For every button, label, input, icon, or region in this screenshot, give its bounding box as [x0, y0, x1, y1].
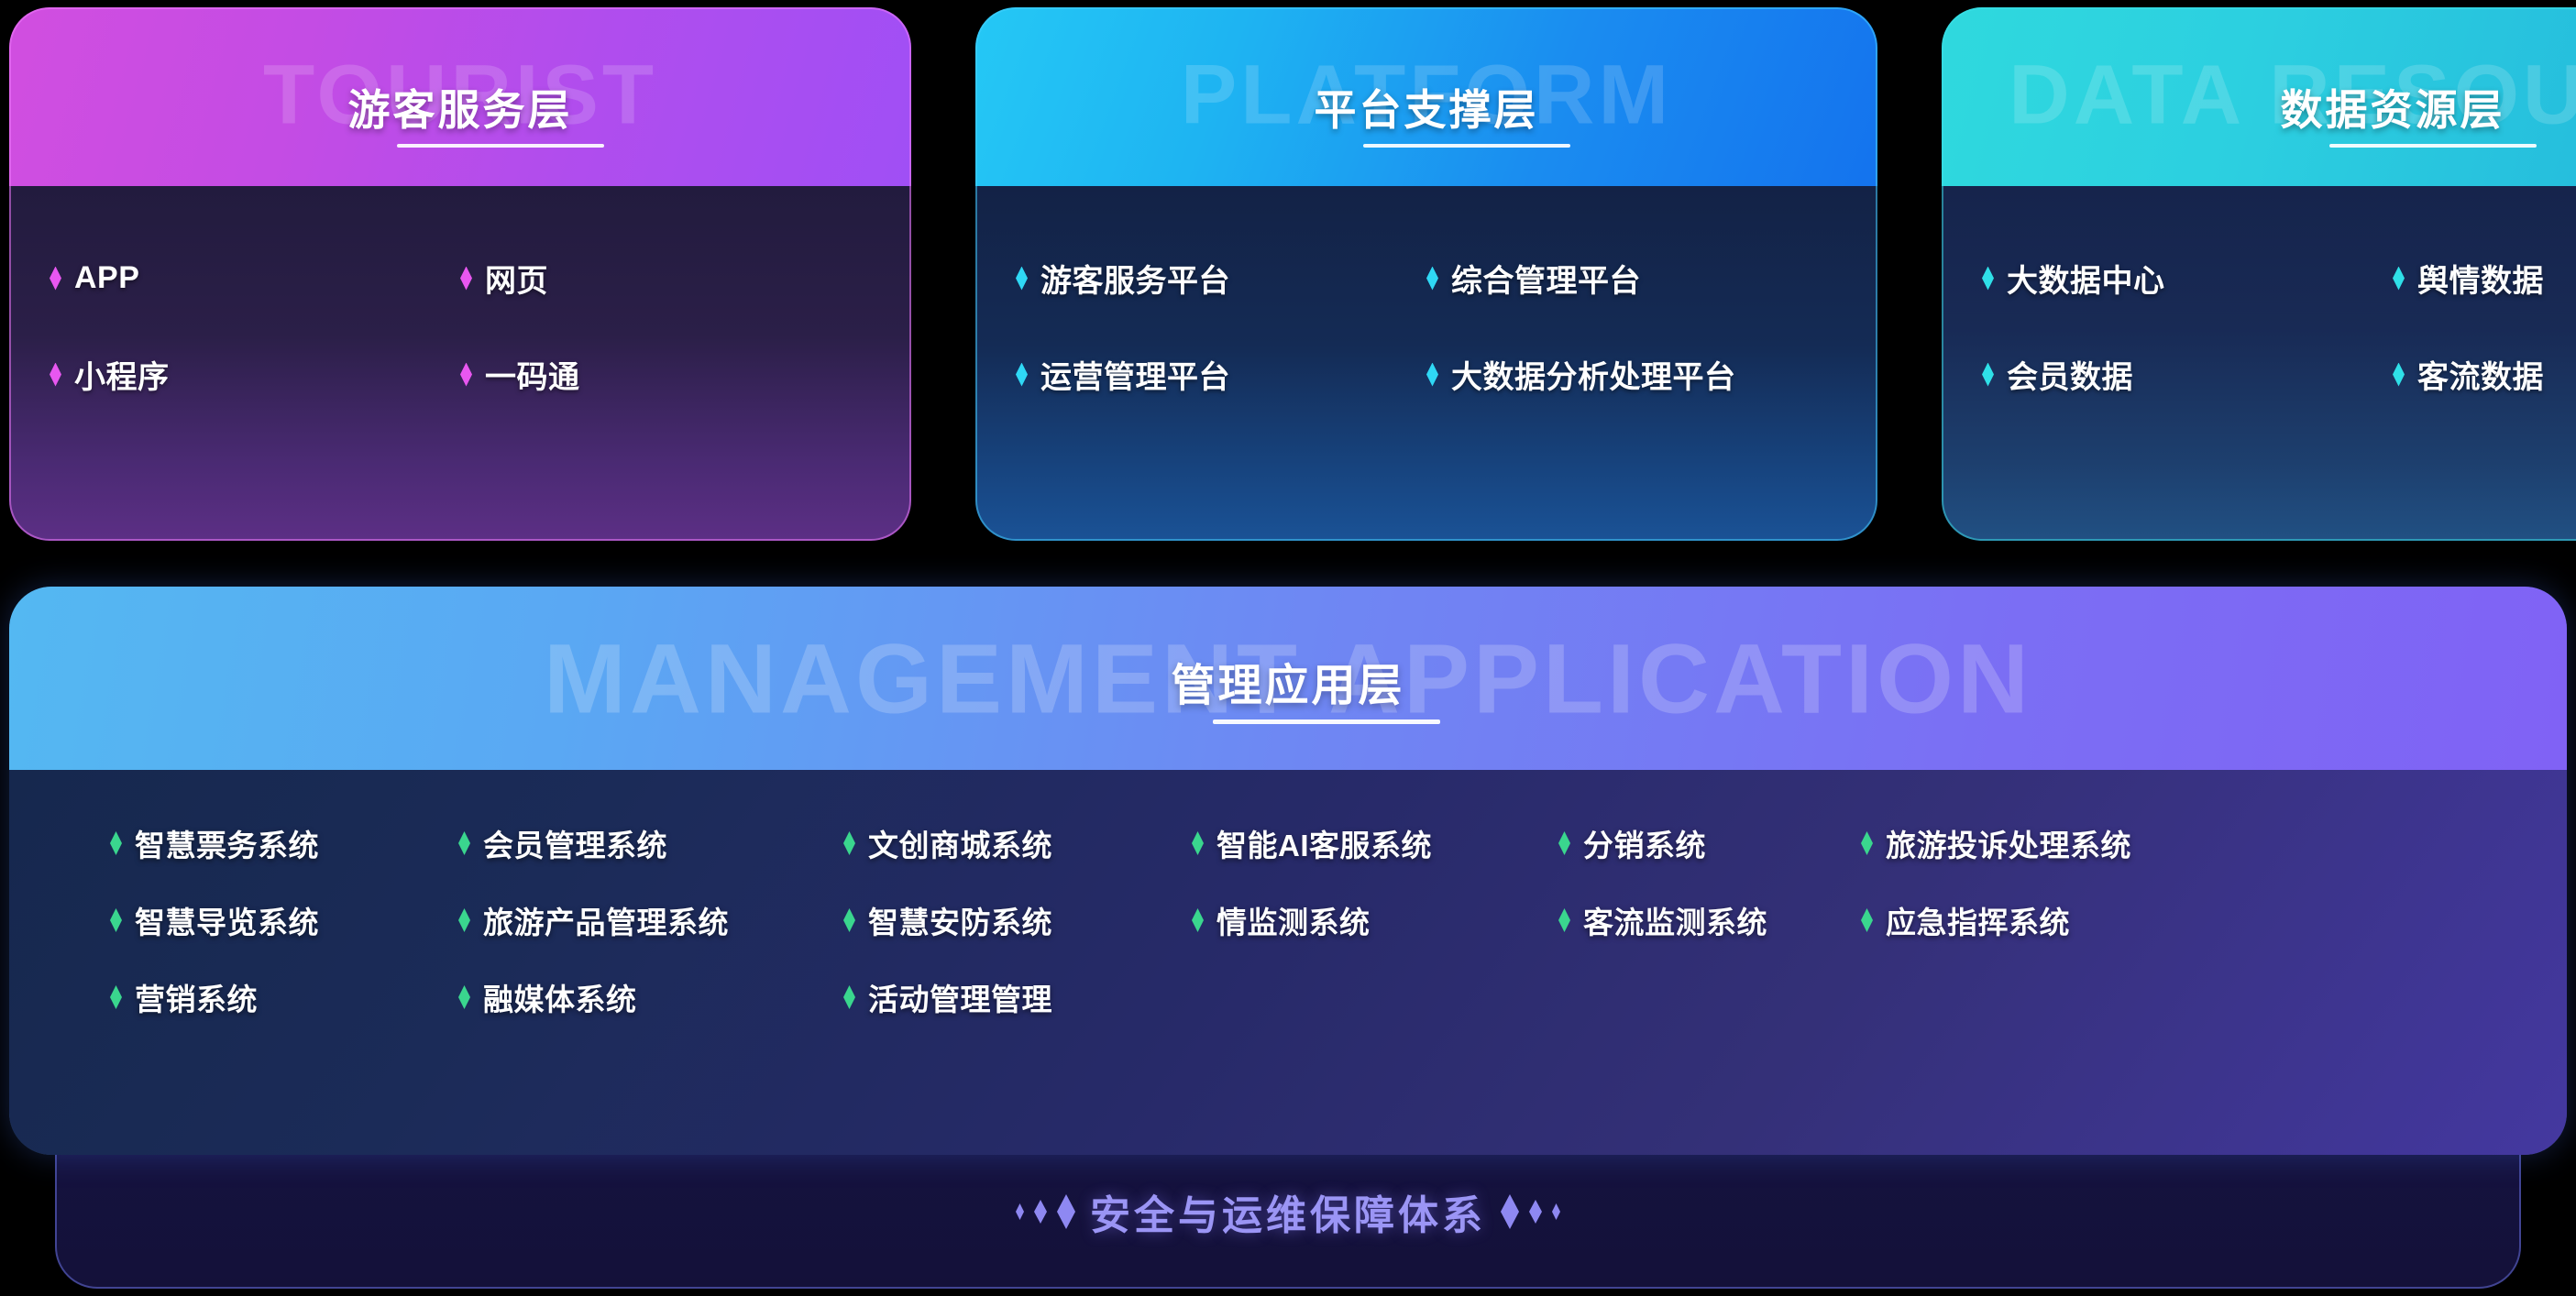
diamond-bullet-icon [50, 363, 61, 387]
card-item-label: 会员数据 [2007, 352, 2133, 397]
card-item[interactable]: 大数据中心 [1982, 256, 2393, 301]
management-title: 管理应用层 [9, 649, 2567, 713]
card-item-label: 小程序 [74, 352, 170, 397]
card-title-tourist: 游客服务层 [9, 77, 911, 137]
diamond-bullet-icon [1558, 908, 1570, 932]
card-body-tourist: APP 网页 小程序 一码通 [9, 186, 911, 541]
diamond-ornament-icon [1529, 1200, 1542, 1224]
management-item[interactable]: 会员管理系统 [458, 821, 843, 865]
management-item[interactable]: 应急指挥系统 [1861, 898, 2466, 942]
diamond-bullet-icon [458, 985, 470, 1009]
diamond-bullet-icon [843, 831, 855, 855]
diamond-bullet-icon [1016, 267, 1028, 291]
diamond-ornament-icon [1016, 1203, 1024, 1220]
management-title-text: 管理应用层 [1171, 649, 1404, 713]
management-item-grid: 智慧票务系统 会员管理系统 文创商城系统 智能AI客服系统 分销系统 旅游投诉处… [110, 821, 2466, 1019]
management-item-label: 旅游投诉处理系统 [1886, 821, 2131, 865]
diamond-bullet-icon [50, 267, 61, 291]
diamond-bullet-icon [843, 908, 855, 932]
management-item[interactable]: 融媒体系统 [458, 975, 843, 1019]
card-item[interactable]: 一码通 [460, 352, 871, 397]
management-item[interactable]: 旅游投诉处理系统 [1861, 821, 2466, 865]
diamond-bullet-icon [110, 908, 122, 932]
layer-card-tourist-service[interactable]: TOURIST 游客服务层 APP 网页 小程序 [9, 7, 911, 541]
card-item[interactable]: 舆情数据 [2393, 256, 2576, 301]
management-item[interactable]: 文创商城系统 [843, 821, 1192, 865]
management-item-label: 旅游产品管理系统 [483, 898, 729, 942]
diamond-bullet-icon [1192, 908, 1204, 932]
card-item-label: 游客服务平台 [1040, 256, 1230, 301]
security-ops-label-row: 安全与运维保障体系 [0, 1182, 2576, 1241]
management-body: 智慧票务系统 会员管理系统 文创商城系统 智能AI客服系统 分销系统 旅游投诉处… [9, 770, 2567, 1155]
diamond-bullet-icon [1192, 831, 1204, 855]
diamond-bullet-icon [1426, 363, 1438, 387]
card-item[interactable]: 会员数据 [1982, 352, 2393, 397]
management-item-label: 活动管理管理 [868, 975, 1052, 1019]
management-item-label: 情监测系统 [1216, 898, 1371, 942]
security-ops-label: 安全与运维保障体系 [1090, 1182, 1486, 1241]
architecture-diagram: TOURIST 游客服务层 APP 网页 小程序 [0, 0, 2576, 1296]
management-item-label: 文创商城系统 [868, 821, 1052, 865]
card-item[interactable]: 客流数据 [2393, 352, 2576, 397]
layer-card-data-resource[interactable]: DATA RESOURCE 数据资源层 大数据中心 舆情数据 会员数据 [1942, 7, 2576, 541]
diamond-bullet-icon [2393, 363, 2405, 387]
card-item-label: 一码通 [485, 352, 580, 397]
diamond-bullet-icon [460, 267, 472, 291]
card-item-label: 舆情数据 [2417, 256, 2544, 301]
card-item-grid-tourist: APP 网页 小程序 一码通 [9, 256, 911, 397]
management-item[interactable]: 营销系统 [110, 975, 458, 1019]
diamond-bullet-icon [110, 985, 122, 1009]
diamond-ornament-icon [1057, 1194, 1075, 1229]
management-item-label: 会员管理系统 [483, 821, 667, 865]
diamond-bullet-icon [458, 831, 470, 855]
card-title-data-text: 数据资源层 [2281, 77, 2505, 137]
management-item[interactable]: 客流监测系统 [1558, 898, 1861, 942]
card-title-platform-text: 平台支撑层 [1315, 77, 1539, 137]
diamond-bullet-icon [1982, 363, 1994, 387]
card-item-label: 综合管理平台 [1451, 256, 1641, 301]
diamond-ornament-icon [1552, 1203, 1560, 1220]
management-item[interactable]: 活动管理管理 [843, 975, 1192, 1019]
card-item[interactable]: 运营管理平台 [1016, 352, 1426, 397]
card-title-platform: 平台支撑层 [975, 77, 1877, 137]
card-item[interactable]: 游客服务平台 [1016, 256, 1426, 301]
card-item-grid-platform: 游客服务平台 综合管理平台 运营管理平台 大数据分析处理平台 [975, 256, 1877, 397]
card-item[interactable]: 小程序 [50, 352, 460, 397]
management-item-label: 智能AI客服系统 [1216, 821, 1432, 865]
diamond-bullet-icon [110, 831, 122, 855]
diamond-ornament-group-right [1501, 1194, 1560, 1229]
management-item[interactable]: 旅游产品管理系统 [458, 898, 843, 942]
diamond-bullet-icon [1426, 267, 1438, 291]
management-item[interactable]: 情监测系统 [1192, 898, 1558, 942]
management-item-label: 智慧票务系统 [135, 821, 319, 865]
diamond-bullet-icon [458, 908, 470, 932]
diamond-bullet-icon [1558, 831, 1570, 855]
management-item-label: 融媒体系统 [483, 975, 637, 1019]
diamond-bullet-icon [460, 363, 472, 387]
card-item-label: 客流数据 [2417, 352, 2544, 397]
diamond-bullet-icon [1861, 831, 1873, 855]
diamond-bullet-icon [843, 985, 855, 1009]
diamond-ornament-icon [1501, 1194, 1519, 1229]
management-item-label: 客流监测系统 [1583, 898, 1767, 942]
layer-card-platform-support[interactable]: PLATFORM 平台支撑层 游客服务平台 综合管理平台 运营管理平台 [975, 7, 1877, 541]
card-body-data: 大数据中心 舆情数据 会员数据 客流数据 [1942, 186, 2576, 541]
diamond-bullet-icon [2393, 267, 2405, 291]
management-item[interactable]: 智慧导览系统 [110, 898, 458, 942]
card-item-label: 网页 [485, 256, 548, 301]
management-item-label: 营销系统 [135, 975, 258, 1019]
diamond-bullet-icon [1861, 908, 1873, 932]
card-item-label: 运营管理平台 [1040, 352, 1230, 397]
management-item[interactable]: 智慧安防系统 [843, 898, 1192, 942]
card-item-label: 大数据中心 [2007, 256, 2165, 301]
card-item[interactable]: 大数据分析处理平台 [1426, 352, 1837, 397]
management-item-label: 应急指挥系统 [1886, 898, 2070, 942]
management-item[interactable]: 分销系统 [1558, 821, 1861, 865]
card-item[interactable]: 综合管理平台 [1426, 256, 1837, 301]
card-title-tourist-text: 游客服务层 [348, 77, 573, 137]
card-item-label: APP [74, 260, 139, 296]
management-item[interactable]: 智能AI客服系统 [1192, 821, 1558, 865]
card-item-label: 大数据分析处理平台 [1451, 352, 1736, 397]
card-title-data: 数据资源层 [1942, 77, 2576, 137]
diamond-ornament-icon [1034, 1200, 1047, 1224]
card-item[interactable]: APP [50, 256, 460, 301]
card-item[interactable]: 网页 [460, 256, 871, 301]
management-item-label: 智慧安防系统 [868, 898, 1052, 942]
diamond-bullet-icon [1982, 267, 1994, 291]
diamond-ornament-group-left [1016, 1194, 1075, 1229]
diamond-bullet-icon [1016, 363, 1028, 387]
card-item-grid-data: 大数据中心 舆情数据 会员数据 客流数据 [1942, 256, 2576, 397]
management-item-label: 智慧导览系统 [135, 898, 319, 942]
management-item[interactable]: 智慧票务系统 [110, 821, 458, 865]
management-item-label: 分销系统 [1583, 821, 1706, 865]
layer-panel-management-application[interactable]: MANAGEMENT APPLICATION 管理应用层 智慧票务系统 会员管理… [9, 587, 2567, 1155]
card-body-platform: 游客服务平台 综合管理平台 运营管理平台 大数据分析处理平台 [975, 186, 1877, 541]
